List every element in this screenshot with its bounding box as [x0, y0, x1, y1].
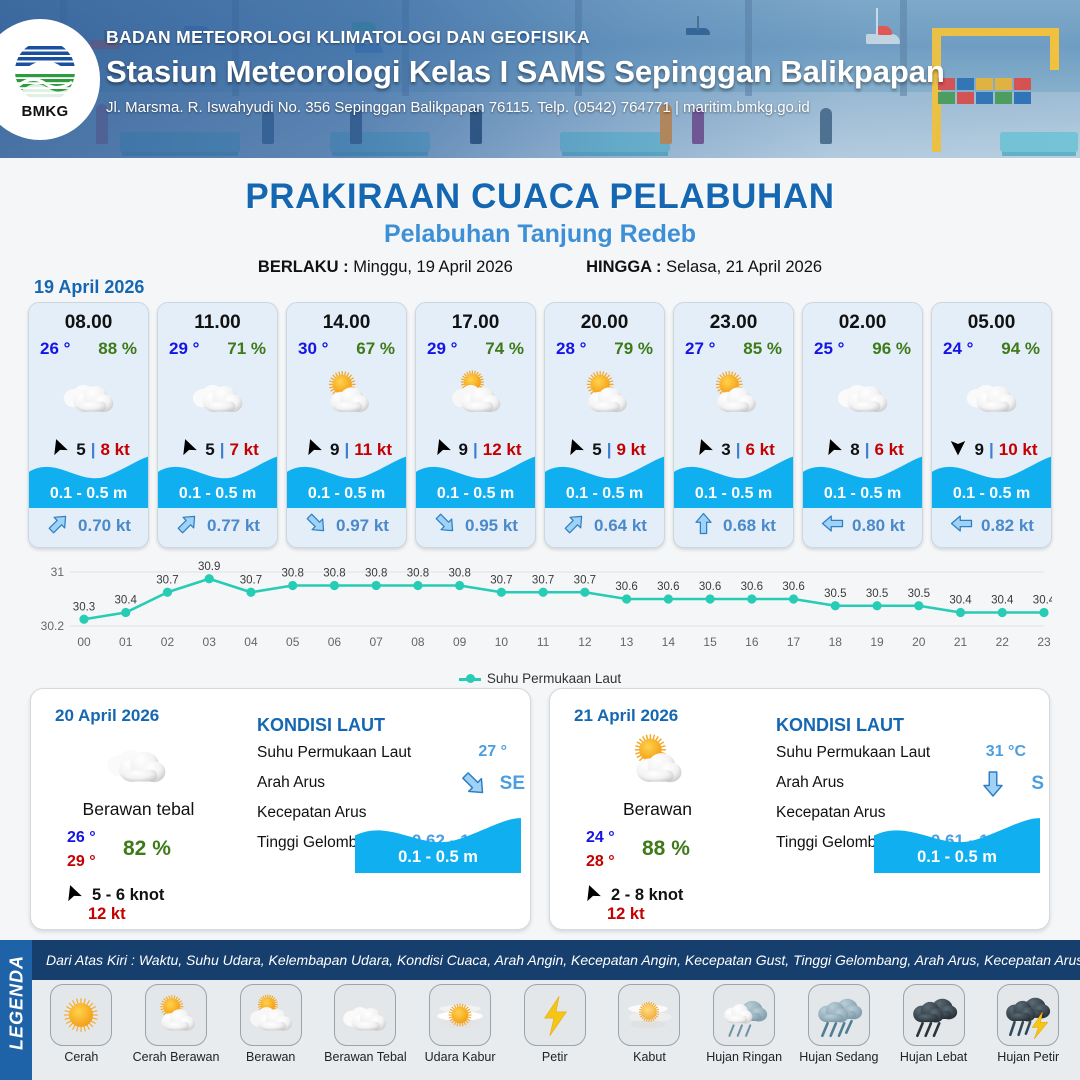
legend-item-label: Hujan Sedang	[799, 1050, 878, 1064]
sun-icon	[50, 984, 112, 1046]
card-current-row: 0.77 kt	[158, 511, 277, 541]
svg-text:30.9: 30.9	[198, 561, 220, 573]
current-direction-row: Arah Arus SE	[257, 771, 525, 801]
legend-footer: LEGENDA Dari Atas Kiri : Waktu, Suhu Uda…	[0, 940, 1080, 1080]
current-direction-value: S	[1031, 773, 1044, 795]
svg-text:13: 13	[620, 635, 634, 649]
svg-text:30.5: 30.5	[824, 588, 846, 600]
card-humidity: 94 %	[1001, 339, 1040, 359]
svg-text:02: 02	[161, 635, 175, 649]
current-direction-arrow-icon	[562, 511, 587, 541]
card-current-row: 0.70 kt	[29, 511, 148, 541]
svg-text:30.2: 30.2	[41, 619, 65, 633]
card-current-speed: 0.68 kt	[723, 516, 776, 536]
sea-conditions-heading: KONDISI LAUT	[776, 715, 1044, 736]
svg-text:19: 19	[870, 635, 884, 649]
card-current-speed: 0.95 kt	[465, 516, 518, 536]
panel-wave-height: 0.1 - 0.5 m	[355, 848, 521, 867]
card-time: 20.00	[545, 312, 664, 334]
legend-item-label: Cerah	[64, 1050, 98, 1064]
legend-item: Udara Kabur	[413, 984, 508, 1064]
current-direction-arrow-icon	[304, 511, 329, 541]
svg-text:30.6: 30.6	[657, 581, 679, 593]
card-temperature: 29 °	[169, 339, 199, 359]
forecast-card[interactable]: 02.00 25 ° 96 % 8 | 6 kt 0.1 - 0.5 m	[802, 302, 923, 548]
current-speed-label: Kecepatan Arus	[776, 804, 885, 822]
svg-text:09: 09	[453, 635, 467, 649]
card-humidity: 67 %	[356, 339, 395, 359]
panel-weather-icon	[608, 731, 704, 791]
forecast-date-label: 19 April 2026	[34, 277, 144, 298]
card-time: 14.00	[287, 312, 406, 334]
svg-text:20: 20	[912, 635, 926, 649]
forecast-card[interactable]: 08.00 26 ° 88 % 5 | 8 kt 0.1 - 0.5 m	[28, 302, 149, 548]
station-address: Jl. Marsma. R. Iswahyudi No. 356 Sepingg…	[106, 99, 945, 116]
current-direction-arrow-icon	[175, 511, 200, 541]
card-time: 08.00	[29, 312, 148, 334]
svg-text:00: 00	[77, 635, 91, 649]
svg-text:30.4: 30.4	[949, 595, 972, 607]
card-humidity: 96 %	[872, 339, 911, 359]
current-speed-label: Kecepatan Arus	[257, 804, 366, 822]
card-humidity: 74 %	[485, 339, 524, 359]
svg-text:08: 08	[411, 635, 425, 649]
daily-summary-panel[interactable]: 21 April 2026 Berawan 24 ° 28 ° 88 % 2 -…	[549, 688, 1050, 930]
current-direction-arrow-icon	[978, 769, 1008, 804]
daily-summary-panel[interactable]: 20 April 2026 Berawan tebal 26 ° 29 ° 82…	[30, 688, 531, 930]
card-time: 02.00	[803, 312, 922, 334]
svg-text:06: 06	[328, 635, 342, 649]
panel-temp-min: 24 °	[586, 829, 615, 847]
legend-side-bar: LEGENDA	[0, 940, 32, 1080]
card-wave-height: 0.1 - 0.5 m	[416, 485, 535, 503]
card-time: 23.00	[674, 312, 793, 334]
svg-text:30.6: 30.6	[615, 581, 637, 593]
svg-text:31: 31	[51, 565, 65, 579]
card-current-row: 0.68 kt	[674, 511, 793, 541]
panel-weather-icon	[89, 731, 185, 791]
panel-wave-block: 0.1 - 0.5 m	[874, 817, 1040, 873]
valid-from-label: BERLAKU :	[258, 258, 349, 276]
card-wave-block: 0.1 - 0.5 m	[674, 454, 793, 508]
svg-text:30.8: 30.8	[407, 568, 429, 580]
card-weather-icon	[416, 363, 535, 425]
svg-text:30.7: 30.7	[156, 574, 178, 586]
card-humidity: 88 %	[98, 339, 137, 359]
panel-condition: Berawan	[550, 799, 765, 820]
svg-text:04: 04	[244, 635, 258, 649]
card-wave-block: 0.1 - 0.5 m	[416, 454, 535, 508]
sst-label: Suhu Permukaan Laut	[776, 744, 930, 762]
current-direction-arrow-icon	[433, 511, 458, 541]
legend-side-title: LEGENDA	[7, 948, 28, 1058]
card-temperature: 26 °	[40, 339, 70, 359]
svg-text:30.4: 30.4	[1033, 595, 1052, 607]
svg-text:14: 14	[662, 635, 676, 649]
legend-item: Berawan	[223, 984, 318, 1064]
valid-to-value: Selasa, 21 April 2026	[666, 258, 822, 276]
card-wave-block: 0.1 - 0.5 m	[287, 454, 406, 508]
card-current-row: 0.80 kt	[803, 511, 922, 541]
legend-item: Hujan Petir	[981, 984, 1076, 1064]
legend-item-label: Kabut	[633, 1050, 666, 1064]
legend-item-label: Berawan Tebal	[324, 1050, 406, 1064]
card-time: 05.00	[932, 312, 1051, 334]
card-wave-height: 0.1 - 0.5 m	[803, 485, 922, 503]
svg-text:30.8: 30.8	[448, 568, 470, 580]
svg-text:22: 22	[996, 635, 1010, 649]
card-current-row: 0.64 kt	[545, 511, 664, 541]
sun-cloud-icon	[145, 984, 207, 1046]
forecast-card[interactable]: 23.00 27 ° 85 % 3 | 6 kt 0.1 - 0.5 m	[673, 302, 794, 548]
svg-text:30.4: 30.4	[115, 595, 138, 607]
legend-item-label: Hujan Lebat	[900, 1050, 967, 1064]
sea-conditions-heading: KONDISI LAUT	[257, 715, 525, 736]
svg-text:30.7: 30.7	[490, 574, 512, 586]
card-current-speed: 0.77 kt	[207, 516, 260, 536]
panel-temp-min: 26 °	[67, 829, 96, 847]
card-time: 11.00	[158, 312, 277, 334]
sst-value: 31 °C	[986, 743, 1026, 761]
card-weather-icon	[932, 363, 1051, 425]
card-temperature: 25 °	[814, 339, 844, 359]
card-wave-height: 0.1 - 0.5 m	[287, 485, 406, 503]
valid-to-label: HINGGA :	[586, 258, 661, 276]
card-humidity: 79 %	[614, 339, 653, 359]
svg-text:30.6: 30.6	[741, 581, 763, 593]
svg-text:30.8: 30.8	[282, 568, 304, 580]
card-weather-icon	[803, 363, 922, 425]
chart-legend: Suhu Permukaan Laut	[28, 671, 1052, 686]
card-weather-icon	[158, 363, 277, 425]
svg-text:01: 01	[119, 635, 133, 649]
forecast-card[interactable]: 05.00 24 ° 94 % 9 | 10 kt 0.1 - 0.5 m	[931, 302, 1052, 548]
card-current-speed: 0.97 kt	[336, 516, 389, 536]
card-weather-icon	[29, 363, 148, 425]
card-wave-block: 0.1 - 0.5 m	[158, 454, 277, 508]
card-current-row: 0.95 kt	[416, 511, 535, 541]
card-current-row: 0.82 kt	[932, 511, 1051, 541]
valid-from-value: Minggu, 19 April 2026	[353, 258, 513, 276]
moderate-rain-icon	[808, 984, 870, 1046]
card-current-speed: 0.80 kt	[852, 516, 905, 536]
svg-text:30.6: 30.6	[699, 581, 721, 593]
card-current-speed: 0.70 kt	[78, 516, 131, 536]
card-wave-block: 0.1 - 0.5 m	[545, 454, 664, 508]
svg-text:15: 15	[703, 635, 717, 649]
panel-temp-max: 28 °	[586, 853, 615, 871]
legend-item: Cerah Berawan	[129, 984, 224, 1064]
forecast-card[interactable]: 11.00 29 ° 71 % 5 | 7 kt 0.1 - 0.5 m	[157, 302, 278, 548]
panel-sea-conditions: KONDISI LAUT Suhu Permukaan Laut 27 ° Ar…	[257, 715, 525, 861]
bmkg-logo-text: BMKG	[21, 103, 68, 120]
current-direction-arrow-icon	[46, 511, 71, 541]
legend-item: Hujan Sedang	[792, 984, 887, 1064]
legend-item: Berawan Tebal	[318, 984, 413, 1064]
svg-text:10: 10	[495, 635, 509, 649]
current-direction-arrow-icon	[820, 511, 845, 541]
panel-gust: 12 kt	[88, 905, 126, 924]
card-humidity: 85 %	[743, 339, 782, 359]
current-direction-row: Arah Arus S	[776, 771, 1044, 801]
current-direction-arrow-icon	[459, 769, 489, 804]
svg-text:30.7: 30.7	[532, 574, 554, 586]
panel-sea-conditions: KONDISI LAUT Suhu Permukaan Laut 31 °C A…	[776, 715, 1044, 861]
page-header: BMKG BADAN METEOROLOGI KLIMATOLOGI DAN G…	[0, 0, 1080, 158]
card-temperature: 30 °	[298, 339, 328, 359]
svg-text:11: 11	[537, 635, 550, 649]
svg-text:30.7: 30.7	[240, 574, 262, 586]
legend-item-label: Hujan Petir	[997, 1050, 1059, 1064]
current-direction-value: SE	[500, 773, 525, 795]
legend-note: Dari Atas Kiri : Waktu, Suhu Udara, Kele…	[46, 952, 1080, 968]
svg-text:30.5: 30.5	[908, 588, 930, 600]
card-wave-block: 0.1 - 0.5 m	[29, 454, 148, 508]
sst-chart-svg: 3130.230.30030.40130.70230.90330.70430.8…	[28, 558, 1052, 663]
forecast-card[interactable]: 17.00 29 ° 74 % 9 | 12 kt 0.1 - 0.5 m	[415, 302, 536, 548]
svg-text:30.8: 30.8	[323, 568, 345, 580]
card-weather-icon	[287, 363, 406, 425]
svg-text:30.8: 30.8	[365, 568, 387, 580]
panel-date: 20 April 2026	[55, 706, 159, 726]
current-direction-label: Arah Arus	[257, 774, 325, 792]
wind-direction-arrow-icon	[580, 881, 604, 910]
legend-item-label: Cerah Berawan	[133, 1050, 220, 1064]
daily-summary-panels: 20 April 2026 Berawan tebal 26 ° 29 ° 82…	[30, 688, 1050, 930]
svg-text:30.6: 30.6	[782, 581, 804, 593]
fog-icon	[618, 984, 680, 1046]
svg-text:12: 12	[578, 635, 592, 649]
card-wave-height: 0.1 - 0.5 m	[932, 485, 1051, 503]
card-weather-icon	[674, 363, 793, 425]
svg-text:21: 21	[954, 635, 968, 649]
panel-humidity: 88 %	[642, 837, 690, 861]
legend-item-list: Cerah Cerah Berawan Berawan	[34, 984, 1076, 1064]
legend-note-strip: Dari Atas Kiri : Waktu, Suhu Udara, Kele…	[32, 940, 1080, 980]
card-wave-block: 0.1 - 0.5 m	[803, 454, 922, 508]
svg-text:07: 07	[369, 635, 383, 649]
svg-text:30.5: 30.5	[866, 588, 888, 600]
chart-legend-swatch	[459, 678, 481, 681]
svg-text:05: 05	[286, 635, 300, 649]
sun-clouds-icon	[240, 984, 302, 1046]
card-wave-height: 0.1 - 0.5 m	[158, 485, 277, 503]
card-temperature: 27 °	[685, 339, 715, 359]
svg-text:16: 16	[745, 635, 759, 649]
sst-label: Suhu Permukaan Laut	[257, 744, 411, 762]
svg-text:18: 18	[829, 635, 843, 649]
card-current-speed: 0.82 kt	[981, 516, 1034, 536]
forecast-card[interactable]: 20.00 28 ° 79 % 5 | 9 kt 0.1 - 0.5 m	[544, 302, 665, 548]
wind-direction-arrow-icon	[61, 881, 85, 910]
sst-chart: 3130.230.30030.40130.70230.90330.70430.8…	[28, 558, 1052, 686]
panel-wave-height: 0.1 - 0.5 m	[874, 848, 1040, 867]
page-subtitle: Pelabuhan Tanjung Redeb	[0, 220, 1080, 249]
card-temperature: 24 °	[943, 339, 973, 359]
svg-text:30.7: 30.7	[574, 574, 596, 586]
panel-wind-range: 5 - 6 knot	[92, 886, 164, 905]
page-title: PRAKIRAAN CUACA PELABUHAN	[0, 177, 1080, 217]
bolt-icon	[524, 984, 586, 1046]
station-name: Stasiun Meteorologi Kelas I SAMS Sepingg…	[106, 54, 945, 90]
sst-value: 27 °	[478, 743, 507, 761]
bmkg-logo-icon	[14, 40, 76, 102]
card-weather-icon	[545, 363, 664, 425]
card-current-row: 0.97 kt	[287, 511, 406, 541]
panel-gust: 12 kt	[607, 905, 645, 924]
legend-item: Cerah	[34, 984, 129, 1064]
thunder-rain-icon	[997, 984, 1059, 1046]
legend-item-label: Udara Kabur	[425, 1050, 496, 1064]
panel-condition: Berawan tebal	[31, 799, 246, 820]
validity-line: BERLAKU : Minggu, 19 April 2026 HINGGA :…	[0, 258, 1080, 277]
current-direction-arrow-icon	[949, 511, 974, 541]
card-temperature: 29 °	[427, 339, 457, 359]
current-direction-arrow-icon	[691, 511, 716, 541]
light-rain-icon	[713, 984, 775, 1046]
forecast-card[interactable]: 14.00 30 ° 67 % 9 | 11 kt 0.1 - 0.5 m	[286, 302, 407, 548]
card-wave-height: 0.1 - 0.5 m	[674, 485, 793, 503]
svg-text:23: 23	[1037, 635, 1051, 649]
panel-wind-range: 2 - 8 knot	[611, 886, 683, 905]
card-time: 17.00	[416, 312, 535, 334]
svg-text:17: 17	[787, 635, 801, 649]
panel-temp-max: 29 °	[67, 853, 96, 871]
card-humidity: 71 %	[227, 339, 266, 359]
svg-text:03: 03	[203, 635, 217, 649]
org-name: BADAN METEOROLOGI KLIMATOLOGI DAN GEOFIS…	[106, 27, 945, 48]
sst-row: Suhu Permukaan Laut 31 °C	[776, 741, 1044, 771]
card-temperature: 28 °	[556, 339, 586, 359]
panel-wave-block: 0.1 - 0.5 m	[355, 817, 521, 873]
svg-text:30.4: 30.4	[991, 595, 1014, 607]
legend-item: Hujan Ringan	[697, 984, 792, 1064]
card-current-speed: 0.64 kt	[594, 516, 647, 536]
chart-legend-label: Suhu Permukaan Laut	[487, 671, 621, 686]
card-wave-block: 0.1 - 0.5 m	[932, 454, 1051, 508]
sst-row: Suhu Permukaan Laut 27 °	[257, 741, 525, 771]
heavy-rain-icon	[903, 984, 965, 1046]
card-wave-height: 0.1 - 0.5 m	[545, 485, 664, 503]
panel-humidity: 82 %	[123, 837, 171, 861]
legend-item-label: Hujan Ringan	[706, 1050, 782, 1064]
legend-item: Hujan Lebat	[886, 984, 981, 1064]
forecast-card-list: 08.00 26 ° 88 % 5 | 8 kt 0.1 - 0.5 m	[28, 302, 1052, 548]
haze-sun-icon	[429, 984, 491, 1046]
legend-item: Petir	[507, 984, 602, 1064]
svg-text:30.3: 30.3	[73, 601, 95, 613]
legend-item-label: Berawan	[246, 1050, 295, 1064]
current-direction-label: Arah Arus	[776, 774, 844, 792]
clouds-icon	[334, 984, 396, 1046]
legend-item: Kabut	[602, 984, 697, 1064]
card-wave-height: 0.1 - 0.5 m	[29, 485, 148, 503]
legend-item-label: Petir	[542, 1050, 568, 1064]
panel-date: 21 April 2026	[574, 706, 678, 726]
